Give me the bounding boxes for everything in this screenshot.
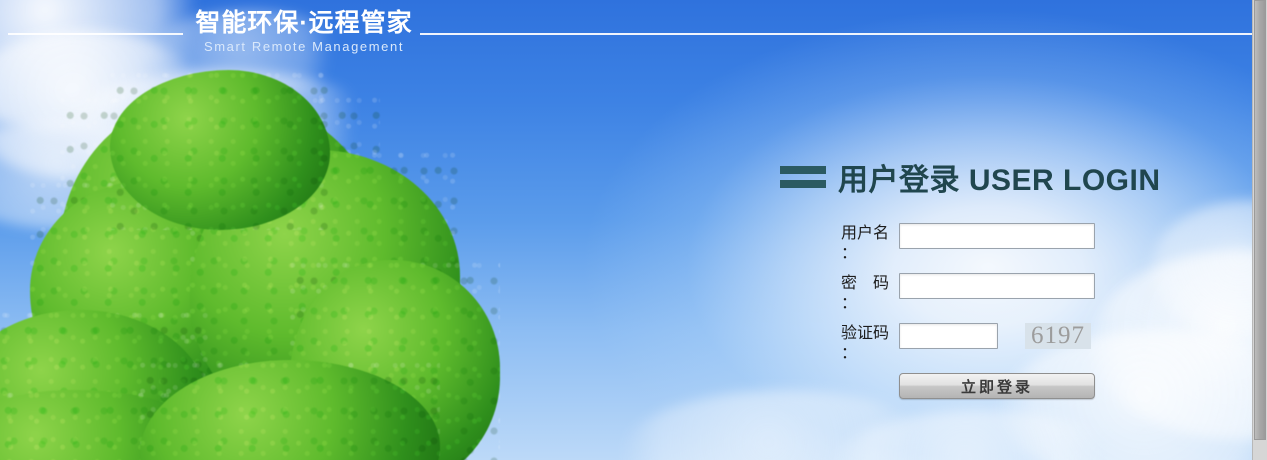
captcha-code-image[interactable]: 6197 xyxy=(1025,323,1091,349)
username-row: 用户名 ： xyxy=(841,223,1160,264)
login-form: 用户名 ： 密 码 ： 验证码 ： 6197 xyxy=(780,223,1160,399)
captcha-label-text: 验证码 xyxy=(841,325,889,342)
password-row: 密 码 ： xyxy=(841,273,1160,314)
username-label-colon: ： xyxy=(841,244,899,264)
login-title-text: 用户登录 USER LOGIN xyxy=(838,155,1161,199)
captcha-label: 验证码 ： xyxy=(841,323,899,364)
password-label-text: 密 码 xyxy=(841,275,889,292)
login-panel: 用户登录 USER LOGIN 用户名 ： 密 码 ： 验证码 xyxy=(780,155,1160,399)
header-divider-left xyxy=(8,33,183,35)
password-input[interactable] xyxy=(899,273,1095,299)
password-label-colon: ： xyxy=(841,294,899,314)
two-bars-icon xyxy=(780,166,826,188)
captcha-row: 验证码 ： 6197 xyxy=(841,323,1160,364)
submit-row: 立即登录 xyxy=(841,373,1160,399)
vertical-scrollbar[interactable] xyxy=(1252,0,1267,460)
captcha-input[interactable] xyxy=(899,323,998,349)
captcha-label-colon: ： xyxy=(841,344,899,364)
scrollbar-thumb[interactable] xyxy=(1254,0,1266,440)
username-label: 用户名 ： xyxy=(841,223,899,264)
password-label: 密 码 ： xyxy=(841,273,899,314)
username-label-text: 用户名 xyxy=(841,225,889,242)
username-input[interactable] xyxy=(899,223,1095,249)
header-divider-right xyxy=(420,33,1252,35)
login-page: 智能环保·远程管家 Smart Remote Management 用户登录 U… xyxy=(0,0,1267,460)
login-submit-button[interactable]: 立即登录 xyxy=(899,373,1095,399)
login-title: 用户登录 USER LOGIN xyxy=(780,155,1160,199)
